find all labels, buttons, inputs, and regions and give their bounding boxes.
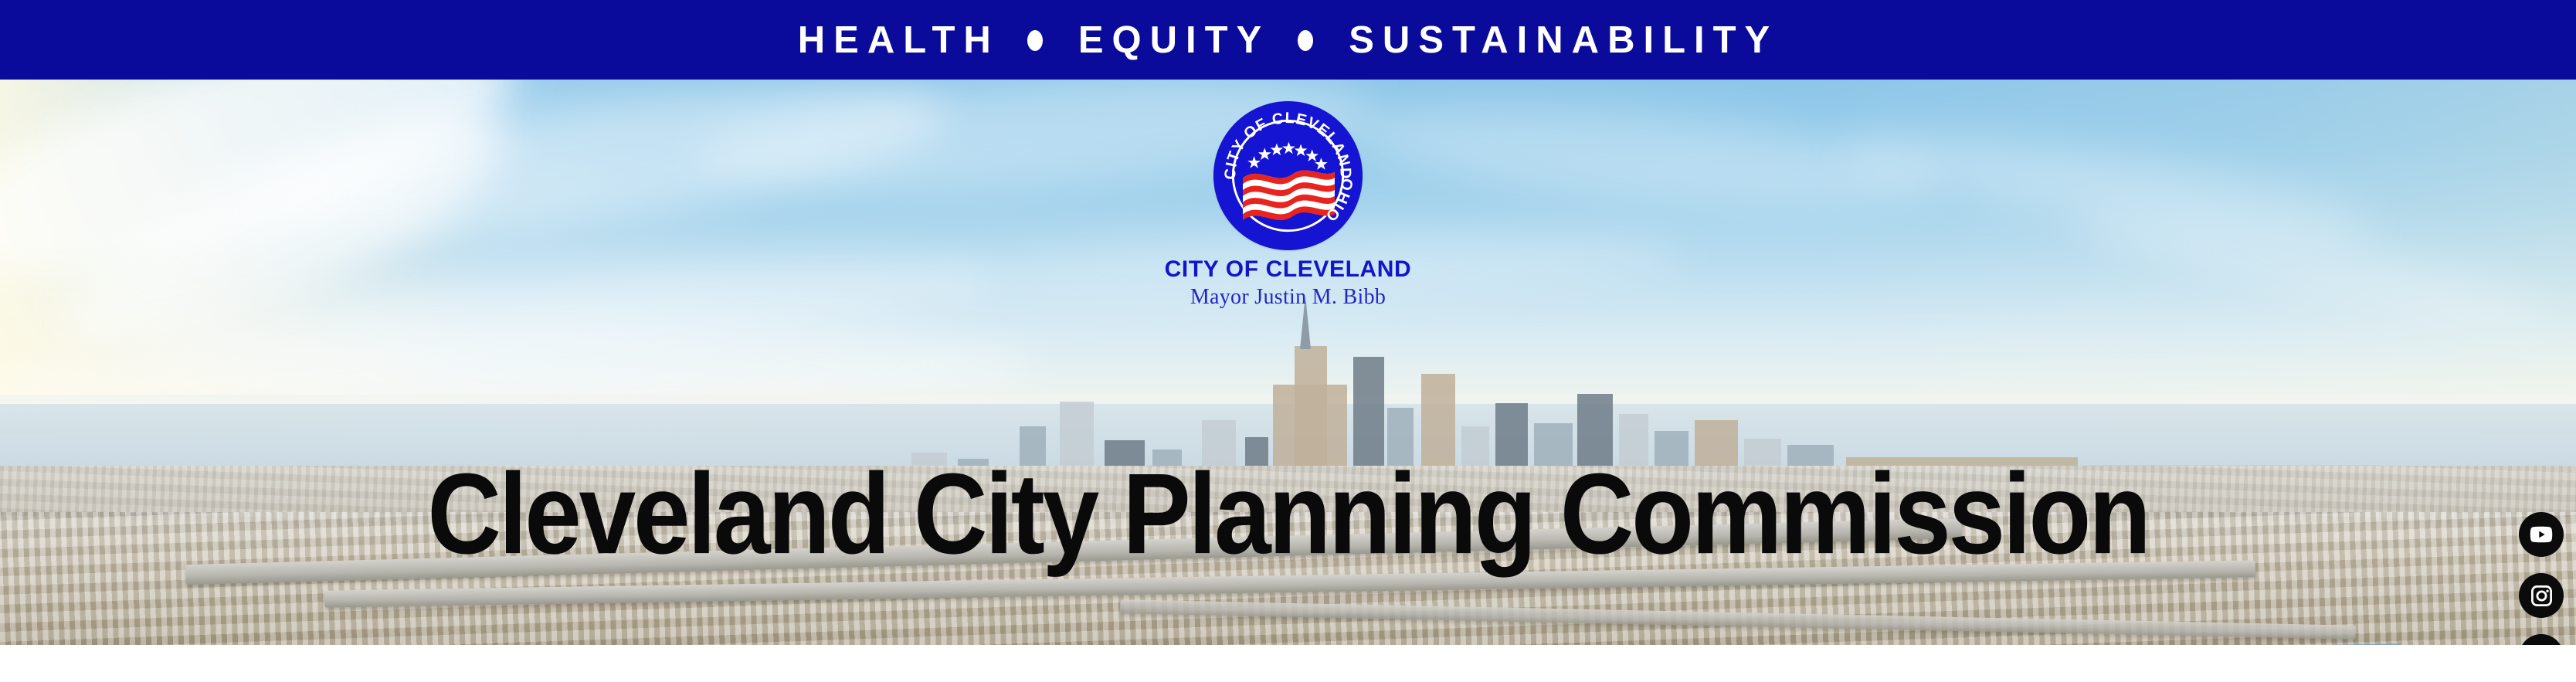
hero-photo: CITY OF CLEVELAND OHIO CITY OF CLEVELAND… <box>0 80 2576 645</box>
cleveland-city-planning-commission-header: HEALTH EQUITY SUSTAINABILITY <box>0 0 2576 682</box>
top-banner: HEALTH EQUITY SUSTAINABILITY <box>0 0 2576 80</box>
banner-separator-dot-1 <box>1027 30 1043 51</box>
city-identity-block: CITY OF CLEVELAND OHIO CITY OF CLEVELAND… <box>0 80 2576 308</box>
youtube-button[interactable] <box>2519 512 2564 557</box>
bottom-white-strip <box>0 645 2576 682</box>
banner-word-equity: EQUITY <box>1078 22 1270 59</box>
page-title: Cleveland City Planning Commission <box>0 457 2576 572</box>
youtube-icon <box>2528 521 2554 548</box>
organization-name: CITY OF CLEVELAND <box>1165 257 1412 282</box>
city-of-cleveland-seal-icon: CITY OF CLEVELAND OHIO <box>1213 100 1363 251</box>
mayor-name: Mayor Justin M. Bibb <box>1190 286 1386 308</box>
banner-text-group: HEALTH EQUITY SUSTAINABILITY <box>798 22 1778 59</box>
banner-separator-dot-2 <box>1298 30 1313 51</box>
instagram-button[interactable] <box>2519 573 2564 618</box>
facebook-button[interactable] <box>2519 634 2564 645</box>
social-media-rail <box>2519 512 2564 645</box>
instagram-icon <box>2529 583 2554 609</box>
banner-word-sustainability: SUSTAINABILITY <box>1349 22 1778 59</box>
banner-word-health: HEALTH <box>798 22 1000 59</box>
